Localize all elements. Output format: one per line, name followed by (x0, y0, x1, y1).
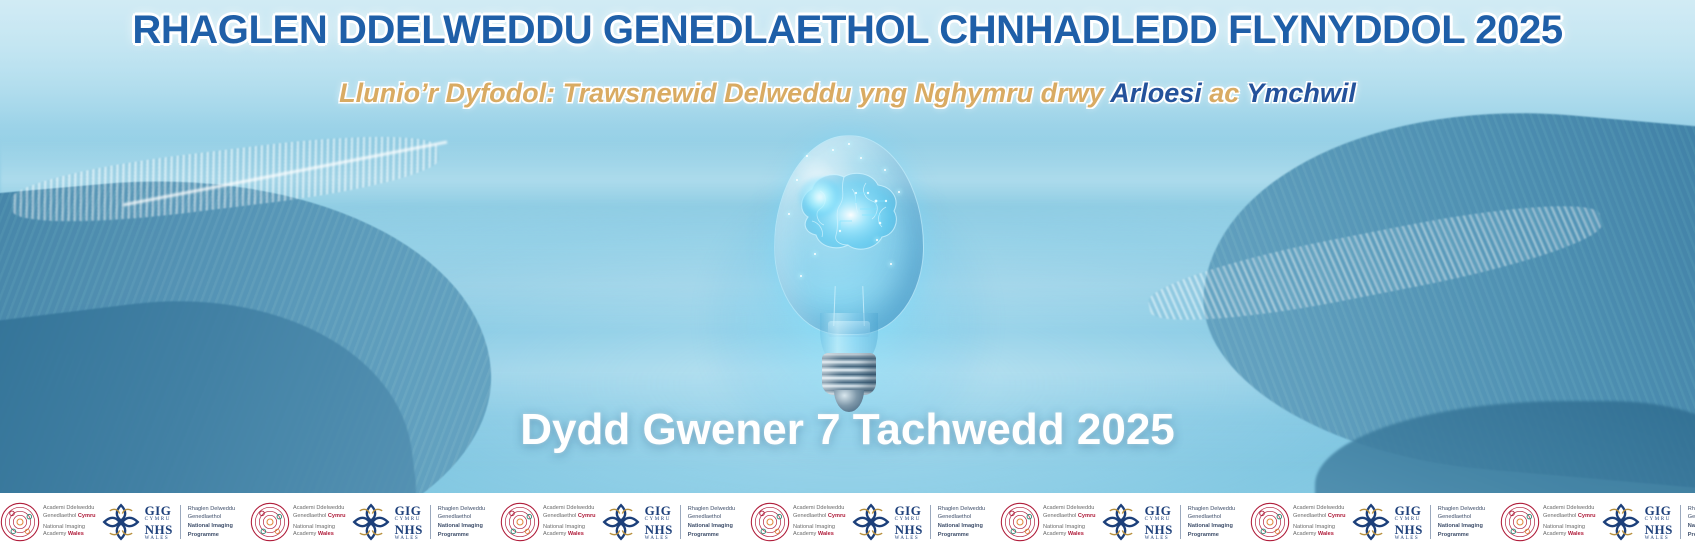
nhs-line-3: National Imaging (688, 522, 735, 531)
nhs-text: NHS (395, 523, 423, 536)
niaw-line-4: Academy Wales (1043, 531, 1096, 539)
niaw-wordmark-text: Academi Ddelweddu Genedlaethol Cymru Nat… (1293, 505, 1346, 540)
celtic-knot-icon (1350, 501, 1392, 543)
niaw-line-2: Genedlaethol Cymru (293, 513, 346, 521)
nhs-wordmark: GIG CYMRU NHS WALES (395, 504, 423, 541)
nhs-line-3: National Imaging (938, 522, 985, 531)
nhs-line-4: Programme (188, 531, 235, 540)
niaw-line-4: Academy Wales (1543, 531, 1596, 539)
nhs-line-2: Genedlaethol (188, 513, 235, 522)
wales-text: WALES (645, 536, 673, 541)
nhs-wales-national-imaging-programme-logo: GIG CYMRU NHS WALES Rhaglen Delweddu Gen… (350, 501, 486, 543)
nhs-text: NHS (145, 523, 173, 536)
nhs-logo-divider (1680, 505, 1681, 539)
niaw-wordmark-text: Academi Ddelweddu Genedlaethol Cymru Nat… (1543, 505, 1596, 540)
niaw-line-1: Academi Ddelweddu (43, 505, 96, 513)
nhs-logo-divider (180, 505, 181, 539)
niaw-line-1: Academi Ddelweddu (1043, 505, 1096, 513)
nhs-line-2: Genedlaethol (688, 513, 735, 522)
subtitle-segment-2: ac (1202, 78, 1247, 108)
niaw-line-2-accent: Cymru (328, 513, 346, 519)
logo-strip-track: Academi Ddelweddu Genedlaethol Cymru Nat… (0, 493, 1695, 551)
gig-text: GIG (895, 504, 923, 517)
niaw-line-2: Genedlaethol Cymru (1543, 513, 1596, 521)
niaw-line-3: National Imaging (293, 524, 346, 532)
nhs-line-3: National Imaging (1688, 522, 1695, 531)
nhs-wordmark: GIG CYMRU NHS WALES (645, 504, 673, 541)
national-imaging-academy-wales-logo: Academi Ddelweddu Genedlaethol Cymru Nat… (500, 502, 596, 542)
nhs-line-1: Rhaglen Delweddu (438, 505, 485, 514)
nhs-wales-national-imaging-programme-logo: GIG CYMRU NHS WALES Rhaglen Delweddu Gen… (1600, 501, 1695, 543)
niaw-line-2-prefix: Genedlaethol (543, 513, 578, 519)
national-imaging-academy-wales-logo: Academi Ddelweddu Genedlaethol Cymru Nat… (250, 502, 346, 542)
bulb-screw-cap (822, 353, 876, 395)
nhs-text: NHS (1645, 523, 1673, 536)
subtitle-segment-1: Llunio’r Dyfodol: Trawsnewid Delweddu yn… (339, 78, 1110, 108)
nhs-programme-text: Rhaglen Delweddu Genedlaethol National I… (1188, 505, 1235, 540)
niaw-line-3: National Imaging (43, 524, 96, 532)
nhs-line-2: Genedlaethol (1188, 513, 1235, 522)
wales-text: WALES (895, 536, 923, 541)
logo-pair: Academi Ddelweddu Genedlaethol Cymru Nat… (750, 493, 1000, 551)
nhs-logo-divider (1180, 505, 1181, 539)
cymru-text: CYMRU (1395, 517, 1423, 522)
subtitle-highlight-ymchwil: Ymchwil (1246, 78, 1356, 108)
nhs-wordmark: GIG CYMRU NHS WALES (1395, 504, 1423, 541)
nhs-wordmark: GIG CYMRU NHS WALES (145, 504, 173, 541)
sponsor-logo-strip: Academi Ddelweddu Genedlaethol Cymru Nat… (0, 493, 1695, 551)
celtic-knot-icon (100, 501, 142, 543)
nhs-line-4: Programme (1188, 531, 1235, 540)
cymru-text: CYMRU (1145, 517, 1173, 522)
nhs-line-1: Rhaglen Delweddu (188, 505, 235, 514)
celtic-knot-icon (1100, 501, 1142, 543)
national-imaging-academy-wales-logo: Academi Ddelweddu Genedlaethol Cymru Nat… (1500, 502, 1596, 542)
nhs-programme-text: Rhaglen Delweddu Genedlaethol National I… (1688, 505, 1695, 540)
niaw-line-3: National Imaging (1543, 524, 1596, 532)
niaw-line-4-prefix: Academy (293, 531, 318, 537)
niaw-line-2-accent: Cymru (1328, 513, 1346, 519)
niaw-line-2-prefix: Genedlaethol (1043, 513, 1078, 519)
niaw-wordmark-text: Academi Ddelweddu Genedlaethol Cymru Nat… (793, 505, 846, 540)
wales-text: WALES (1395, 536, 1423, 541)
niaw-line-2: Genedlaethol Cymru (1293, 513, 1346, 521)
wales-text: WALES (1645, 536, 1673, 541)
niaw-line-4-prefix: Academy (1293, 531, 1318, 537)
nhs-wordmark: GIG CYMRU NHS WALES (1145, 504, 1173, 541)
nhs-line-1: Rhaglen Delweddu (1188, 505, 1235, 514)
niaw-line-2-accent: Cymru (1578, 513, 1596, 519)
niaw-line-1: Academi Ddelweddu (1543, 505, 1596, 513)
niaw-line-4-accent: Wales (318, 531, 334, 537)
niaw-line-2-accent: Cymru (578, 513, 596, 519)
wales-text: WALES (395, 536, 423, 541)
gig-text: GIG (1645, 504, 1673, 517)
nhs-line-4: Programme (438, 531, 485, 540)
wales-text: WALES (145, 536, 173, 541)
nhs-line-2: Genedlaethol (1688, 513, 1695, 522)
logo-pair: Academi Ddelweddu Genedlaethol Cymru Nat… (1500, 493, 1695, 551)
nhs-wales-national-imaging-programme-logo: GIG CYMRU NHS WALES Rhaglen Delweddu Gen… (1100, 501, 1236, 543)
niaw-line-3: National Imaging (1043, 524, 1096, 532)
celtic-knot-icon (1600, 501, 1642, 543)
nhs-text: NHS (645, 523, 673, 536)
nhs-line-3: National Imaging (188, 522, 235, 531)
nhs-line-2: Genedlaethol (438, 513, 485, 522)
national-imaging-academy-wales-logo: Academi Ddelweddu Genedlaethol Cymru Nat… (750, 502, 846, 542)
niaw-atom-icon (750, 502, 790, 542)
niaw-line-4-accent: Wales (1318, 531, 1334, 537)
niaw-atom-icon (1000, 502, 1040, 542)
event-date: Dydd Gwener 7 Tachwedd 2025 (0, 405, 1695, 455)
logo-pair: Academi Ddelweddu Genedlaethol Cymru Nat… (1250, 493, 1500, 551)
niaw-line-4-accent: Wales (568, 531, 584, 537)
nhs-line-4: Programme (688, 531, 735, 540)
niaw-line-4: Academy Wales (293, 531, 346, 539)
niaw-line-4: Academy Wales (793, 531, 846, 539)
niaw-atom-icon (500, 502, 540, 542)
logo-pair: Academi Ddelweddu Genedlaethol Cymru Nat… (0, 493, 250, 551)
niaw-line-1: Academi Ddelweddu (293, 505, 346, 513)
niaw-line-4-accent: Wales (1068, 531, 1084, 537)
niaw-line-2-prefix: Genedlaethol (293, 513, 328, 519)
niaw-line-2: Genedlaethol Cymru (43, 513, 96, 521)
nhs-line-2: Genedlaethol (938, 513, 985, 522)
cymru-text: CYMRU (1645, 517, 1673, 522)
niaw-wordmark-text: Academi Ddelweddu Genedlaethol Cymru Nat… (543, 505, 596, 540)
niaw-atom-icon (250, 502, 290, 542)
nhs-line-4: Programme (1438, 531, 1485, 540)
nhs-programme-text: Rhaglen Delweddu Genedlaethol National I… (438, 505, 485, 540)
niaw-line-1: Academi Ddelweddu (543, 505, 596, 513)
niaw-line-4: Academy Wales (1293, 531, 1346, 539)
gig-text: GIG (645, 504, 673, 517)
nhs-programme-text: Rhaglen Delweddu Genedlaethol National I… (188, 505, 235, 540)
niaw-line-3: National Imaging (793, 524, 846, 532)
national-imaging-academy-wales-logo: Academi Ddelweddu Genedlaethol Cymru Nat… (0, 502, 96, 542)
nhs-programme-text: Rhaglen Delweddu Genedlaethol National I… (938, 505, 985, 540)
celtic-knot-icon (350, 501, 392, 543)
cymru-text: CYMRU (895, 517, 923, 522)
niaw-atom-icon (1250, 502, 1290, 542)
niaw-line-2-accent: Cymru (828, 513, 846, 519)
niaw-line-4-prefix: Academy (793, 531, 818, 537)
conference-banner: RHAGLEN DDELWEDDU GENEDLAETHOL CHNHADLED… (0, 0, 1695, 551)
cymru-text: CYMRU (145, 517, 173, 522)
niaw-line-4-prefix: Academy (43, 531, 68, 537)
logo-pair: Academi Ddelweddu Genedlaethol Cymru Nat… (500, 493, 750, 551)
nhs-wales-national-imaging-programme-logo: GIG CYMRU NHS WALES Rhaglen Delweddu Gen… (600, 501, 736, 543)
nhs-wales-national-imaging-programme-logo: GIG CYMRU NHS WALES Rhaglen Delweddu Gen… (850, 501, 986, 543)
nhs-line-2: Genedlaethol (1438, 513, 1485, 522)
niaw-line-4: Academy Wales (43, 531, 96, 539)
niaw-line-2: Genedlaethol Cymru (543, 513, 596, 521)
nhs-logo-divider (680, 505, 681, 539)
nhs-text: NHS (1395, 523, 1423, 536)
niaw-line-3: National Imaging (543, 524, 596, 532)
nhs-text: NHS (895, 523, 923, 536)
niaw-line-4-accent: Wales (68, 531, 84, 537)
niaw-line-2: Genedlaethol Cymru (1043, 513, 1096, 521)
niaw-line-2: Genedlaethol Cymru (793, 513, 846, 521)
niaw-line-2-prefix: Genedlaethol (793, 513, 828, 519)
niaw-wordmark-text: Academi Ddelweddu Genedlaethol Cymru Nat… (1043, 505, 1096, 540)
celtic-knot-icon (850, 501, 892, 543)
nhs-line-3: National Imaging (1438, 522, 1485, 531)
niaw-line-3: National Imaging (1293, 524, 1346, 532)
nhs-line-1: Rhaglen Delweddu (938, 505, 985, 514)
nhs-line-3: National Imaging (438, 522, 485, 531)
niaw-line-4: Academy Wales (543, 531, 596, 539)
nhs-line-1: Rhaglen Delweddu (1438, 505, 1485, 514)
nhs-logo-divider (930, 505, 931, 539)
nhs-line-1: Rhaglen Delweddu (688, 505, 735, 514)
nhs-line-3: National Imaging (1188, 522, 1235, 531)
subtitle-highlight-arloesi: Arloesi (1110, 78, 1202, 108)
niaw-line-2-accent: Cymru (1078, 513, 1096, 519)
niaw-wordmark-text: Academi Ddelweddu Genedlaethol Cymru Nat… (293, 505, 346, 540)
niaw-atom-icon (0, 502, 40, 542)
niaw-line-2-prefix: Genedlaethol (1293, 513, 1328, 519)
niaw-line-2-accent: Cymru (78, 513, 96, 519)
cymru-text: CYMRU (645, 517, 673, 522)
niaw-line-4-accent: Wales (818, 531, 834, 537)
national-imaging-academy-wales-logo: Academi Ddelweddu Genedlaethol Cymru Nat… (1250, 502, 1346, 542)
wales-text: WALES (1145, 536, 1173, 541)
nhs-wales-national-imaging-programme-logo: GIG CYMRU NHS WALES Rhaglen Delweddu Gen… (100, 501, 236, 543)
nhs-line-1: Rhaglen Delweddu (1688, 505, 1695, 514)
logo-pair: Academi Ddelweddu Genedlaethol Cymru Nat… (250, 493, 500, 551)
gig-text: GIG (1395, 504, 1423, 517)
cymru-text: CYMRU (395, 517, 423, 522)
nhs-programme-text: Rhaglen Delweddu Genedlaethol National I… (1438, 505, 1485, 540)
niaw-line-1: Academi Ddelweddu (1293, 505, 1346, 513)
niaw-line-2-prefix: Genedlaethol (1543, 513, 1578, 519)
nhs-logo-divider (430, 505, 431, 539)
lightbulb-brain-illustration (748, 135, 948, 410)
logo-pair: Academi Ddelweddu Genedlaethol Cymru Nat… (1000, 493, 1250, 551)
nhs-wordmark: GIG CYMRU NHS WALES (895, 504, 923, 541)
niaw-line-2-prefix: Genedlaethol (43, 513, 78, 519)
nhs-wordmark: GIG CYMRU NHS WALES (1645, 504, 1673, 541)
niaw-line-4-accent: Wales (1568, 531, 1584, 537)
niaw-line-4-prefix: Academy (543, 531, 568, 537)
niaw-wordmark-text: Academi Ddelweddu Genedlaethol Cymru Nat… (43, 505, 96, 540)
gig-text: GIG (1145, 504, 1173, 517)
niaw-line-4-prefix: Academy (1043, 531, 1068, 537)
nhs-text: NHS (1145, 523, 1173, 536)
nhs-line-4: Programme (938, 531, 985, 540)
banner-subtitle: Llunio’r Dyfodol: Trawsnewid Delweddu yn… (0, 78, 1695, 109)
niaw-line-1: Academi Ddelweddu (793, 505, 846, 513)
celtic-knot-icon (600, 501, 642, 543)
banner-title: RHAGLEN DDELWEDDU GENEDLAETHOL CHNHADLED… (0, 8, 1695, 53)
nhs-programme-text: Rhaglen Delweddu Genedlaethol National I… (688, 505, 735, 540)
gig-text: GIG (395, 504, 423, 517)
nhs-logo-divider (1430, 505, 1431, 539)
gig-text: GIG (145, 504, 173, 517)
niaw-atom-icon (1500, 502, 1540, 542)
nhs-wales-national-imaging-programme-logo: GIG CYMRU NHS WALES Rhaglen Delweddu Gen… (1350, 501, 1486, 543)
niaw-line-4-prefix: Academy (1543, 531, 1568, 537)
national-imaging-academy-wales-logo: Academi Ddelweddu Genedlaethol Cymru Nat… (1000, 502, 1096, 542)
nhs-line-4: Programme (1688, 531, 1695, 540)
